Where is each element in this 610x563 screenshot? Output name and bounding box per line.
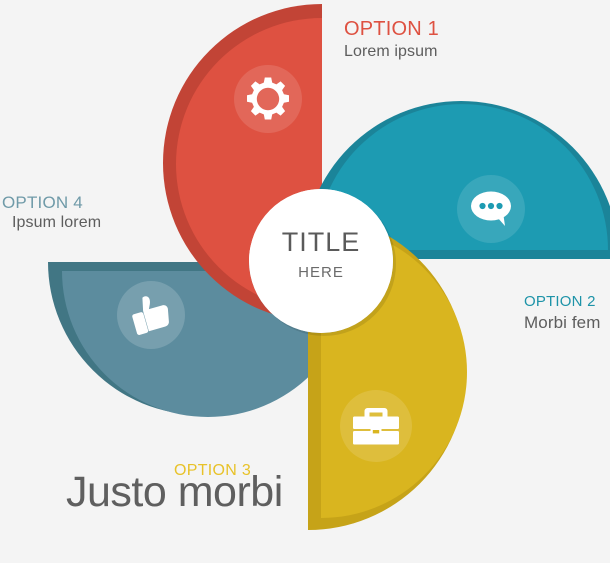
option-4-title: OPTION 4	[2, 192, 101, 213]
option-2-title: OPTION 2	[524, 293, 600, 312]
option-1-title: OPTION 1	[344, 17, 439, 42]
icon-badge-option-2[interactable]	[457, 175, 525, 243]
icon-badge-option-4[interactable]	[117, 281, 185, 349]
label-option-3: OPTION 3	[174, 461, 251, 481]
infographic-canvas: OPTION 1 Lorem ipsum OPTION 2 Morbi fem …	[0, 0, 610, 563]
icon-badge-option-1[interactable]	[234, 65, 302, 133]
option-3-title: OPTION 3	[174, 461, 251, 481]
label-option-4: OPTION 4 Ipsum lorem	[2, 192, 101, 233]
label-option-2: OPTION 2 Morbi fem	[524, 293, 600, 333]
label-option-1: OPTION 1 Lorem ipsum	[344, 17, 439, 62]
icon-badge-option-3[interactable]	[340, 390, 412, 462]
option-1-description: Lorem ipsum	[344, 42, 439, 62]
hub-circle	[249, 189, 393, 333]
icon-badge-circle	[234, 65, 302, 133]
option-2-description: Morbi fem	[524, 312, 600, 333]
option-4-description: Ipsum lorem	[2, 213, 101, 233]
